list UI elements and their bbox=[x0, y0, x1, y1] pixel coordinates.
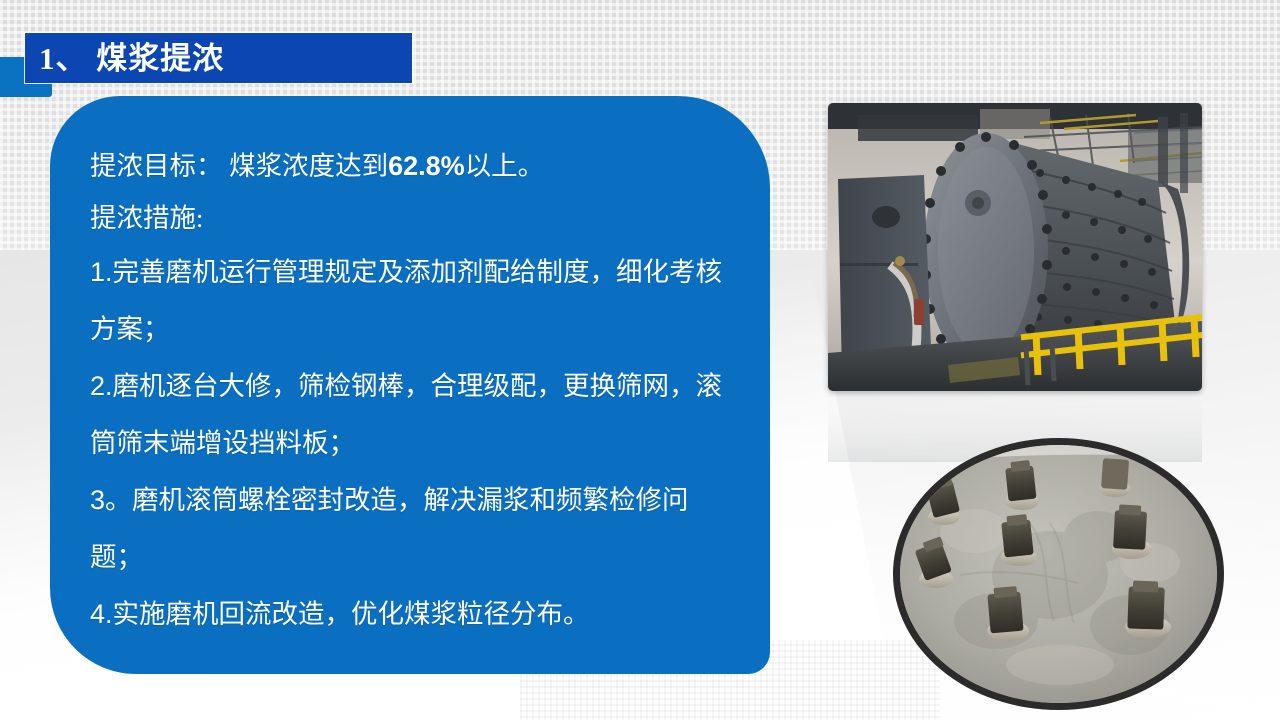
rod-mill-photo bbox=[828, 103, 1202, 391]
measure-item-1: 1.完善磨机运行管理规定及添加剂配给制度，细化考核方案； bbox=[90, 244, 740, 358]
measure-marker-2: 2. bbox=[90, 371, 113, 401]
measure-item-4: 4.实施磨机回流改造，优化煤浆粒径分布。 bbox=[90, 586, 740, 643]
content-panel: 提浓目标： 煤浆浓度达到62.8%以上。 提浓措施: 1.完善磨机运行管理规定及… bbox=[50, 96, 770, 674]
measure-text-2: 磨机逐台大修，筛检钢棒，合理级配，更换筛网，滚筒筛末端增设挡料板； bbox=[90, 371, 722, 458]
goal-line: 提浓目标： 煤浆浓度达到62.8%以上。 bbox=[90, 140, 750, 192]
measure-text-1: 完善磨机运行管理规定及添加剂配给制度，细化考核方案； bbox=[90, 257, 722, 344]
measure-marker-3: 3。 bbox=[90, 485, 132, 515]
goal-text-after: 以上。 bbox=[465, 151, 545, 181]
measure-item-3: 3。磨机滚筒螺栓密封改造，解决漏浆和频繁检修问题； bbox=[90, 472, 740, 586]
measure-item-2: 2.磨机逐台大修，筛检钢棒，合理级配，更换筛网，滚筒筛末端增设挡料板； bbox=[90, 358, 740, 472]
slide-root: 1、 煤浆提浓 提浓目标： 煤浆浓度达到62.8%以上。 提浓措施: 1.完善磨… bbox=[0, 0, 1280, 720]
measure-text-3: 磨机滚筒螺栓密封改造，解决漏浆和频繁检修问题； bbox=[90, 485, 689, 572]
bolted-plate-photo bbox=[893, 438, 1224, 710]
measure-text-4: 实施磨机回流改造，优化煤浆粒径分布。 bbox=[113, 599, 590, 629]
measure-marker-4: 4. bbox=[90, 599, 113, 629]
measure-marker-1: 1. bbox=[90, 257, 113, 287]
measures-label: 提浓措施: bbox=[90, 192, 750, 244]
goal-text-before: 煤浆浓度达到 bbox=[223, 151, 389, 181]
goal-label: 提浓目标： bbox=[90, 151, 223, 181]
goal-value: 62.8% bbox=[388, 151, 465, 181]
title-bar: 1、 煤浆提浓 bbox=[25, 33, 412, 83]
page-title: 1、 煤浆提浓 bbox=[25, 43, 224, 74]
content-panel-inner: 提浓目标： 煤浆浓度达到62.8%以上。 提浓措施: 1.完善磨机运行管理规定及… bbox=[90, 140, 750, 643]
